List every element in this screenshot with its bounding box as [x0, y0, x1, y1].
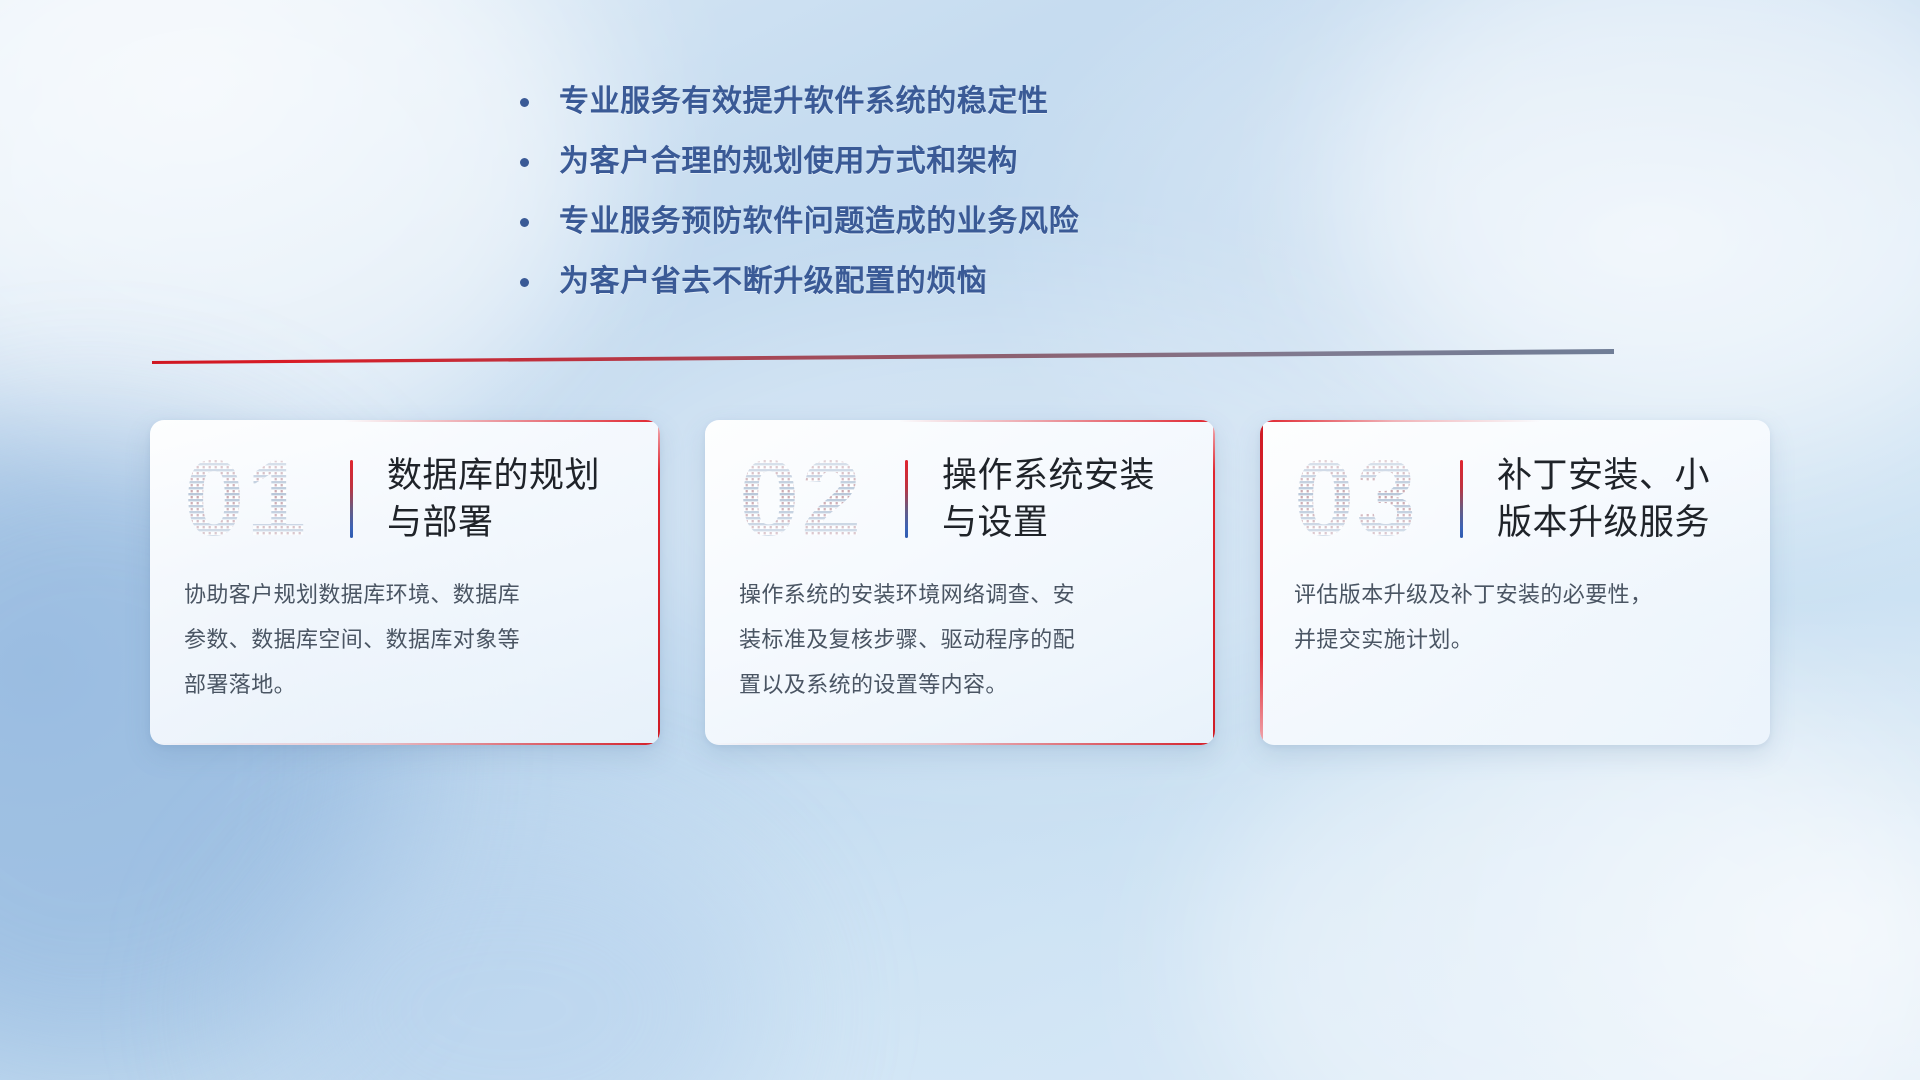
card-accent-bar: [350, 460, 353, 538]
list-item: 专业服务有效提升软件系统的稳定性: [520, 82, 1400, 122]
svg-text:02: 02: [739, 451, 863, 547]
bullet-text: 专业服务有效提升软件系统的稳定性: [559, 82, 1400, 122]
card-accent-bottom: [705, 743, 1215, 746]
card-description: 评估版本升级及补丁安装的必要性， 并提交实施计划。: [1260, 550, 1770, 692]
card-number-03-icon: 03: [1294, 451, 1444, 547]
bullet-text: 专业服务预防软件问题造成的业务风险: [559, 202, 1400, 242]
divider-shape-icon: [152, 349, 1614, 365]
card-header: 03 补丁安装、小 版本升级服务: [1260, 420, 1770, 550]
benefits-bullet-list: 专业服务有效提升软件系统的稳定性 为客户合理的规划使用方式和架构 专业服务预防软…: [520, 82, 1400, 322]
card-title: 数据库的规划 与部署: [387, 452, 626, 546]
list-item: 为客户省去不断升级配置的烦恼: [520, 262, 1400, 302]
bullet-text: 为客户合理的规划使用方式和架构: [559, 142, 1400, 182]
service-card-03[interactable]: 03 补丁安装、小 版本升级服务 评估版本升级及补丁安装的必要性， 并提交实施计…: [1260, 420, 1770, 745]
bullet-dot-icon: [520, 98, 529, 107]
service-card-row: 01 数据库的规划 与部署 协助客户规划数据库环境、数据库 参数、数据库空间、数…: [150, 420, 1770, 745]
card-header: 01 数据库的规划 与部署: [150, 420, 660, 550]
card-accent-bar: [1460, 460, 1463, 538]
background-bloom-top-right: [1340, 0, 1920, 470]
card-accent-bottom: [150, 743, 660, 746]
bullet-dot-icon: [520, 158, 529, 167]
bullet-dot-icon: [520, 218, 529, 227]
card-description: 操作系统的安装环境网络调查、安 装标准及复核步骤、驱动程序的配 置以及系统的设置…: [705, 550, 1215, 737]
service-card-01[interactable]: 01 数据库的规划 与部署 协助客户规划数据库环境、数据库 参数、数据库空间、数…: [150, 420, 660, 745]
card-number-01-icon: 01: [184, 451, 334, 547]
background-bloom-top-left: [0, 0, 600, 480]
section-divider: [152, 349, 1614, 365]
striped-number-glyph: 03: [1294, 451, 1444, 547]
service-card-02[interactable]: 02 操作系统安装 与设置 操作系统的安装环境网络调查、安 装标准及复核步骤、驱…: [705, 420, 1215, 745]
list-item: 专业服务预防软件问题造成的业务风险: [520, 202, 1400, 242]
card-description: 协助客户规划数据库环境、数据库 参数、数据库空间、数据库对象等 部署落地。: [150, 550, 660, 737]
svg-text:01: 01: [184, 451, 308, 547]
svg-text:03: 03: [1294, 451, 1418, 547]
slide-canvas: 专业服务有效提升软件系统的稳定性 为客户合理的规划使用方式和架构 专业服务预防软…: [0, 0, 1920, 1080]
background-bloom-bottom-left: [250, 820, 770, 1080]
striped-number-glyph: 02: [739, 451, 889, 547]
list-item: 为客户合理的规划使用方式和架构: [520, 142, 1400, 182]
card-title: 操作系统安装 与设置: [942, 452, 1181, 546]
card-header: 02 操作系统安装 与设置: [705, 420, 1215, 550]
bullet-text: 为客户省去不断升级配置的烦恼: [559, 262, 1400, 302]
striped-number-glyph: 01: [184, 451, 334, 547]
card-title: 补丁安装、小 版本升级服务: [1497, 452, 1736, 546]
bullet-dot-icon: [520, 278, 529, 287]
card-number-02-icon: 02: [739, 451, 889, 547]
card-accent-bar: [905, 460, 908, 538]
